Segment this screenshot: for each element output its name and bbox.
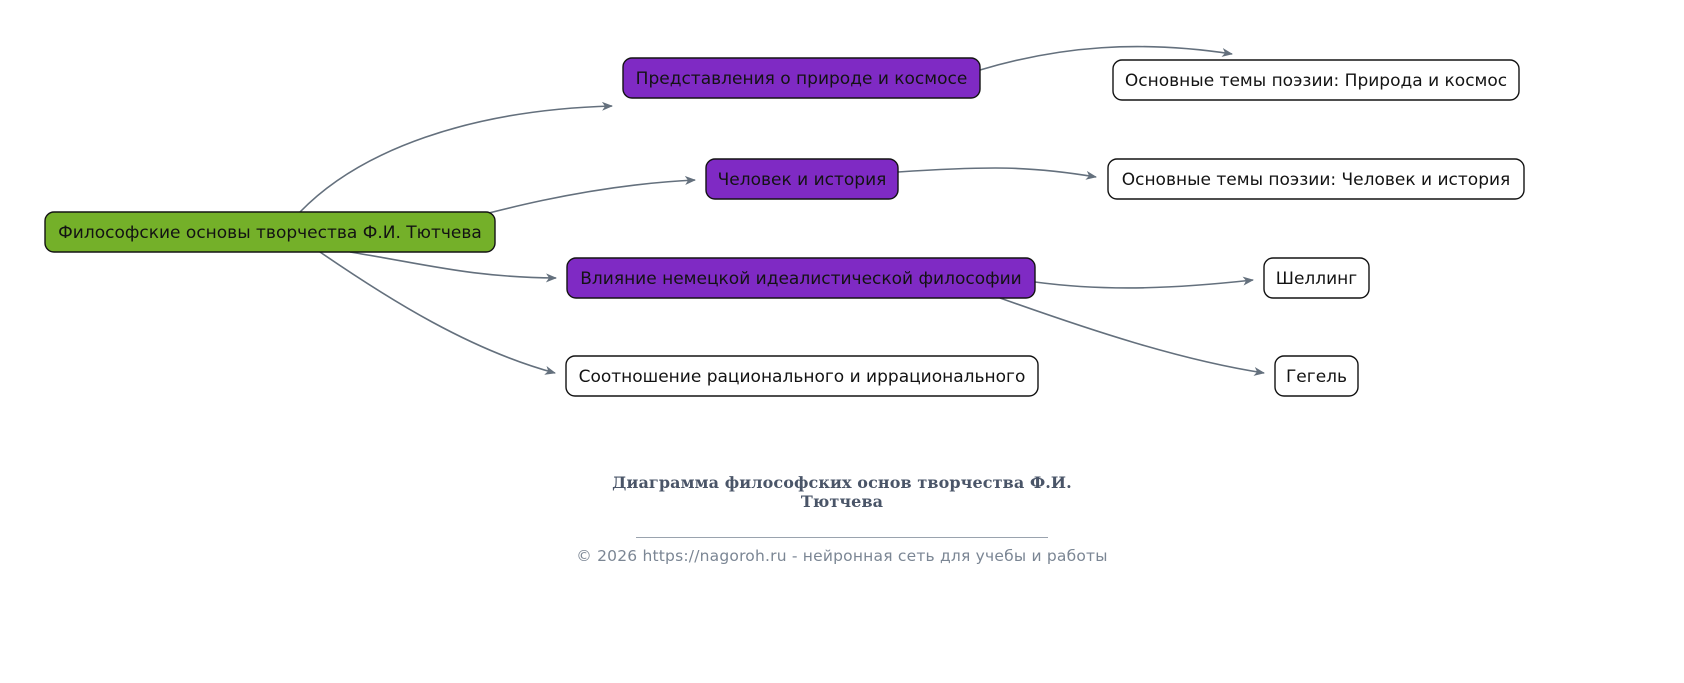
node-schelling[interactable]: Шеллинг	[1264, 258, 1369, 298]
edge-german_philosophy-to-hegel	[1000, 298, 1264, 373]
node-label-hegel: Гегель	[1286, 367, 1347, 387]
edge-root-to-rational_irrational	[320, 252, 555, 373]
edge-root-to-german_philosophy	[350, 252, 556, 278]
node-german_philosophy[interactable]: Влияние немецкой идеалистической философ…	[567, 258, 1035, 298]
node-label-root: Философские основы творчества Ф.И. Тютче…	[58, 223, 482, 243]
diagram-caption-title: Диаграмма философских основ творчества Ф…	[0, 473, 1684, 511]
edge-man_history-to-theme_man_history	[898, 168, 1096, 177]
node-label-theme_man_history: Основные темы поэзии: Человек и история	[1122, 170, 1511, 190]
node-label-rational_irrational: Соотношение рационального и иррациональн…	[579, 367, 1026, 387]
diagram-caption-title-text: Диаграмма философских основ творчества Ф…	[607, 473, 1077, 511]
node-hegel[interactable]: Гегель	[1275, 356, 1358, 396]
nodes-layer: Философские основы творчества Ф.И. Тютче…	[45, 58, 1524, 396]
node-label-nature: Представления о природе и космосе	[636, 69, 968, 89]
node-label-schelling: Шеллинг	[1276, 269, 1358, 289]
flowchart-svg: Философские основы творчества Ф.И. Тютче…	[0, 0, 1684, 683]
node-theme_man_history[interactable]: Основные темы поэзии: Человек и история	[1108, 159, 1524, 199]
node-theme_nature[interactable]: Основные темы поэзии: Природа и космос	[1113, 60, 1519, 100]
node-root[interactable]: Философские основы творчества Ф.И. Тютче…	[45, 212, 495, 252]
diagram-canvas: Философские основы творчества Ф.И. Тютче…	[0, 0, 1684, 683]
caption-divider	[0, 525, 1684, 526]
node-label-man_history: Человек и история	[718, 170, 887, 190]
edge-german_philosophy-to-schelling	[1035, 280, 1253, 288]
node-nature[interactable]: Представления о природе и космосе	[623, 58, 980, 98]
caption-divider-line	[636, 537, 1048, 538]
node-man_history[interactable]: Человек и история	[706, 159, 898, 199]
node-label-theme_nature: Основные темы поэзии: Природа и космос	[1125, 71, 1507, 91]
copyright-notice: © 2026 https://nagoroh.ru - нейронная се…	[0, 547, 1684, 565]
node-rational_irrational[interactable]: Соотношение рационального и иррациональн…	[566, 356, 1038, 396]
node-label-german_philosophy: Влияние немецкой идеалистической философ…	[580, 269, 1021, 289]
